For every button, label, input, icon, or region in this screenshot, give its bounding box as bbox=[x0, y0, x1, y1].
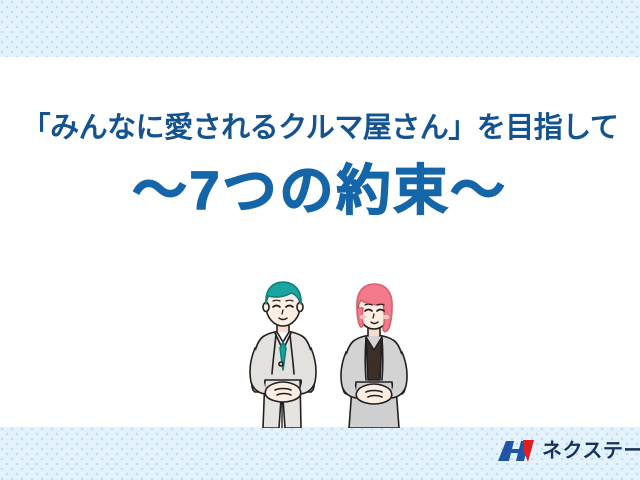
brand-name: ネクステージ bbox=[542, 441, 640, 461]
nextage-n-icon bbox=[497, 438, 535, 464]
promo-banner: 「みんなに愛されるクルマ屋さん」を目指して ～7つの約束～ bbox=[0, 0, 640, 480]
headline-line-1: 「みんなに愛されるクルマ屋さん」を目指して bbox=[0, 110, 640, 147]
top-dotted-band bbox=[0, 0, 640, 57]
female-staff-figure bbox=[341, 284, 407, 428]
headline-block: 「みんなに愛されるクルマ屋さん」を目指して ～7つの約束～ bbox=[0, 110, 640, 222]
staff-illustration bbox=[235, 276, 435, 428]
headline-line-2: ～7つの約束～ bbox=[0, 161, 640, 221]
male-staff-figure bbox=[250, 282, 316, 428]
brand-logo: ネクステージ bbox=[497, 438, 640, 464]
